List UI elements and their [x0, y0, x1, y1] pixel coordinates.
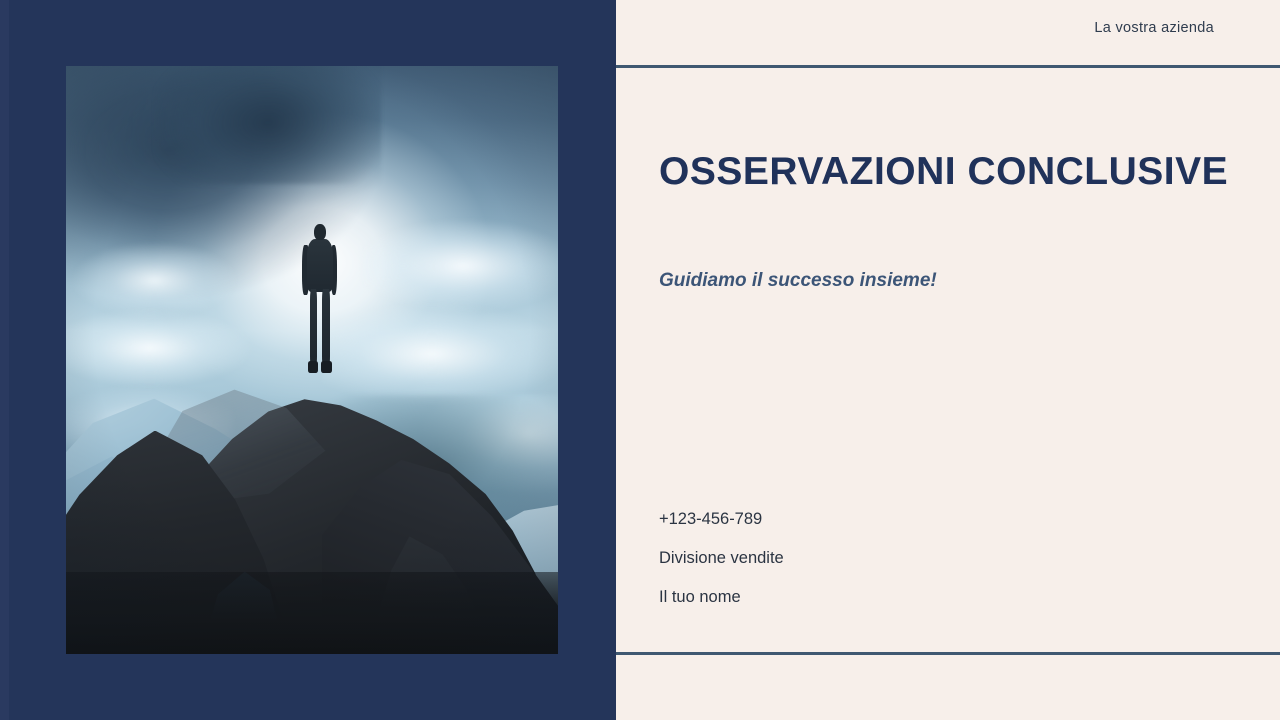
- page-title: OSSERVAZIONI CONCLUSIVE: [659, 150, 1228, 194]
- photo-content: [66, 66, 558, 654]
- white-cloud-3: [361, 219, 558, 313]
- white-cloud-4: [322, 301, 558, 407]
- hiker-boot-left: [308, 361, 318, 373]
- company-name: La vostra azienda: [1094, 20, 1214, 36]
- rock-foreground-shadow: [66, 572, 558, 654]
- mountain-summit-photo: [66, 66, 558, 654]
- subtitle: Guidiamo il successo insieme!: [659, 270, 937, 292]
- slide: La vostra azienda OSSERVAZIONI CONCLUSIV…: [0, 0, 1280, 720]
- hiker-head: [314, 224, 326, 240]
- panel-left-edge-strip: [0, 0, 9, 720]
- hiker-leg-left: [310, 289, 318, 364]
- hiker-leg-right: [322, 289, 330, 364]
- hiker-figure: [296, 224, 343, 380]
- hiker-boot-right: [321, 361, 331, 373]
- contact-person-name: Il tuo nome: [659, 588, 784, 607]
- divider-bottom: [616, 652, 1280, 655]
- divider-top: [616, 65, 1280, 68]
- white-cloud-2: [66, 307, 253, 389]
- contact-department: Divisione vendite: [659, 549, 784, 568]
- contact-block: +123-456-789 Divisione vendite Il tuo no…: [659, 510, 784, 607]
- dark-cloud-top: [155, 66, 381, 184]
- contact-phone: +123-456-789: [659, 510, 784, 529]
- hiker-torso: [307, 239, 333, 292]
